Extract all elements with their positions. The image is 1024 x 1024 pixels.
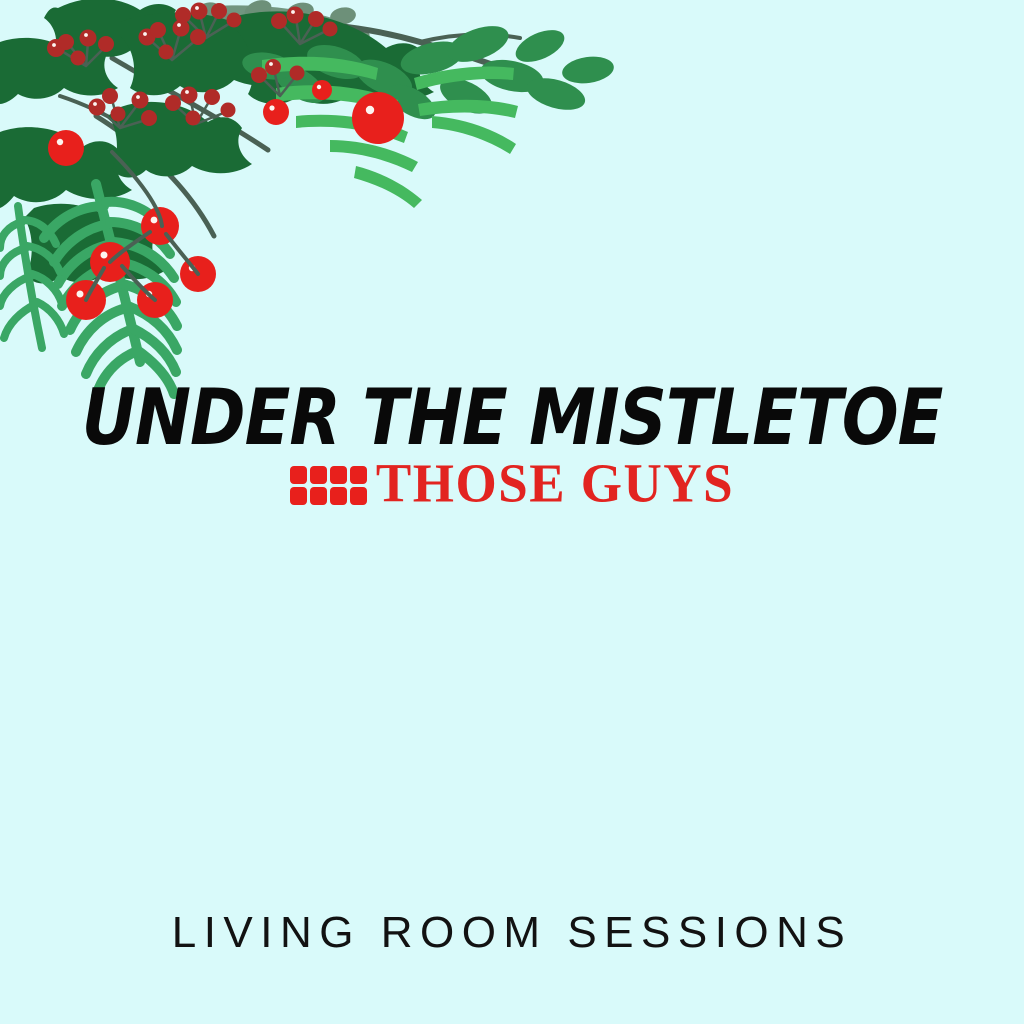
pine-frond (44, 184, 177, 396)
mistletoe-blades (262, 57, 518, 208)
title-block: Under the Mistletoe THOSE GUYS (0, 384, 1024, 524)
logo-square (290, 487, 307, 505)
logo-square (330, 466, 347, 484)
logo-square (330, 487, 347, 505)
logo-square (310, 466, 327, 484)
logo-square (350, 466, 367, 484)
logo-square (310, 487, 327, 505)
berry-cluster-small (47, 3, 338, 129)
four-by-two-red-squares-logo (290, 466, 367, 505)
pine-frond-secondary (0, 206, 64, 348)
logo-square (290, 466, 307, 484)
berries-large (48, 80, 404, 320)
subtitle: LIVING ROOM SESSIONS (0, 908, 1024, 958)
album-title: Under the Mistletoe (15, 380, 1008, 458)
olive-leaves (240, 19, 615, 126)
eucalyptus-sprig (191, 0, 372, 63)
berry-stems (86, 152, 198, 300)
album-cover: Under the Mistletoe THOSE GUYS LIVING RO… (0, 0, 1024, 1024)
holly-leaves (0, 0, 434, 284)
artist-row: THOSE GUYS (0, 458, 1024, 511)
branch-stems (60, 23, 548, 236)
logo-square (350, 487, 367, 505)
artist-name: THOSE GUYS (376, 457, 734, 512)
holly-mistletoe-corner-illustration (0, 0, 620, 420)
